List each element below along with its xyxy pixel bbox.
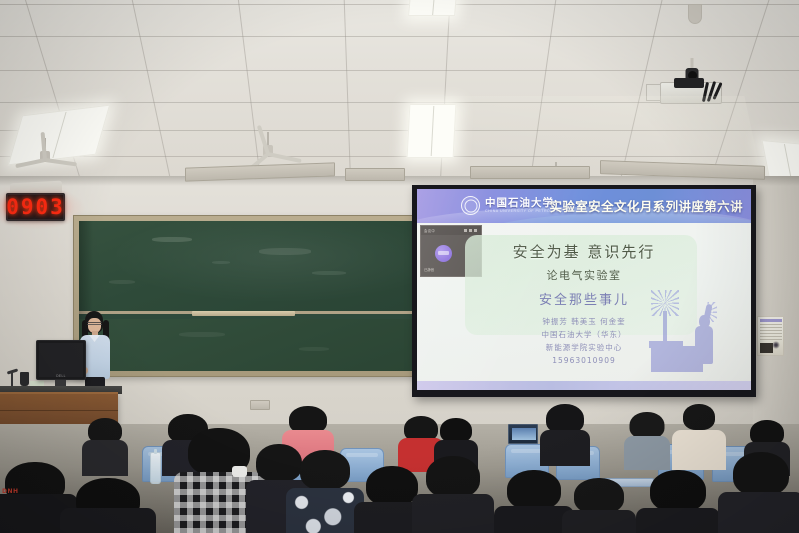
audience-laptop[interactable] [508,424,538,444]
projection-screen: 中国石油大学 CHINA UNIVERSITY OF PETROLEUM 实验室… [412,185,756,397]
audience-member [540,404,590,466]
desk-lamp-icon [7,366,18,386]
desk-accessories [6,366,36,388]
audience-member [82,418,128,476]
glasses-icon [87,322,102,325]
slide-footer-band [417,381,751,390]
lecture-series-title: 实验室安全文化月系列讲座第六讲 [549,196,743,215]
wall-poster [757,316,784,356]
audience-member-front [636,470,720,533]
jacket-logo-text: DNH [2,488,19,495]
projected-slide: 中国石油大学 CHINA UNIVERSITY OF PETROLEUM 实验室… [417,189,751,390]
slide-headline: 安全为基 意识先行 [417,241,751,262]
university-seal-icon [461,196,480,215]
chalk-tray [192,311,295,316]
air-vent [470,166,590,179]
pen-holder [20,372,29,386]
audience-member-front [718,452,799,533]
blackboard-upper-panel [79,221,412,314]
blackboard [73,215,418,377]
air-vent [345,168,405,181]
slide-banner: 中国石油大学 CHINA UNIVERSITY OF PETROLEUM 实验室… [417,189,751,223]
window-controls-icon[interactable] [464,229,478,232]
monitor-brand-label: DELL [56,374,66,378]
digital-wall-clock: 0903 [6,193,65,221]
right-wall [753,176,799,426]
blackboard-lower-panel [79,319,412,372]
audience-member-front [60,478,156,533]
video-conference-label: 会议中 [424,228,435,233]
video-conference-titlebar: 会议中 [421,226,481,235]
ceiling-light-panel [408,0,457,16]
face-mask [232,466,247,477]
lectern-monitor: DELL [36,340,86,380]
lecture-hall-photo: 0903 中国石油大学 [0,0,799,533]
audience-member-front [562,478,636,533]
university-name-cn: 中国石油大学 [485,195,554,210]
smoke-detector-icon [688,4,702,24]
audience-member-front [412,456,494,533]
ceiling [0,0,799,186]
clock-time-display: 0903 [6,197,65,218]
lab-illustration [649,288,745,374]
ceiling-light-panel [407,104,457,158]
slide-subtitle-1: 论电气实验室 [417,267,751,283]
audience-member [624,412,670,470]
wall-air-outlet [250,400,270,410]
audience-member-front-camo [286,450,364,533]
